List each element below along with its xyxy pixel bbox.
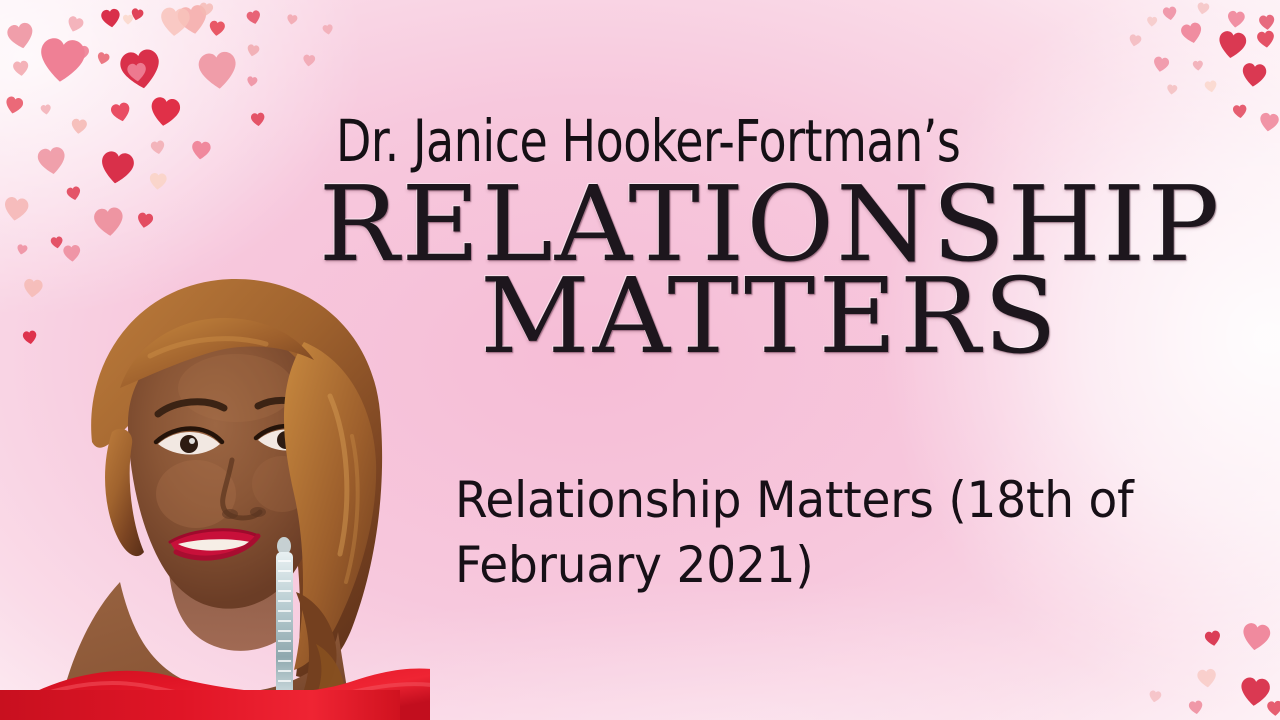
heart-icon (1161, 5, 1179, 23)
heart-icon (149, 139, 168, 158)
heart-icon (1238, 620, 1274, 656)
heart-icon (244, 8, 263, 27)
heart-icon (122, 14, 134, 26)
heart-icon (301, 53, 316, 68)
heart-icon (135, 211, 156, 232)
heart-icon (1146, 16, 1159, 29)
show-title-line-2: MATTERS (317, 268, 1223, 366)
heart-icon (1147, 689, 1163, 705)
heart-icon (125, 61, 149, 85)
heart-icon (1239, 61, 1270, 92)
heart-icon (108, 100, 134, 126)
heart-icon (1127, 33, 1144, 50)
heart-icon (1265, 699, 1280, 718)
show-title: RELATIONSHIP MATTERS (330, 176, 1210, 366)
heart-icon (64, 14, 87, 37)
heart-icon (147, 171, 168, 192)
heart-icon (1203, 629, 1224, 650)
heart-icon (1225, 9, 1247, 31)
dress-lower-fill (0, 690, 400, 720)
heart-icon (1231, 103, 1249, 121)
heart-icon (0, 194, 32, 226)
heart-icon (94, 50, 111, 67)
heart-icon (245, 75, 259, 89)
heart-icon (157, 5, 193, 41)
heart-icon (1214, 28, 1250, 64)
heart-icon (245, 43, 262, 60)
heart-icon (1187, 699, 1205, 717)
heart-icon (146, 94, 184, 132)
heart-icon (3, 19, 39, 55)
episode-subtitle: Relationship Matters (18th of February 2… (455, 468, 1169, 598)
heart-icon (1255, 29, 1278, 52)
heart-icon (99, 7, 124, 32)
heart-icon (194, 48, 242, 96)
heart-icon (1151, 55, 1172, 76)
heart-icon (34, 144, 70, 180)
heart-icon (90, 204, 127, 241)
heart-icon (207, 19, 227, 39)
heart-icon (321, 23, 335, 37)
heart-icon (68, 42, 91, 65)
heart-icon (1165, 83, 1179, 97)
heart-icon (1257, 111, 1280, 136)
heart-icon (1203, 79, 1219, 95)
host-name-kicker: Dr. Janice Hooker-Fortman’s (336, 112, 1100, 170)
heart-icon (96, 148, 139, 191)
heart-icon (197, 1, 215, 19)
heart-icon (1192, 60, 1205, 73)
heart-icon (39, 103, 53, 117)
heart-icon (249, 111, 267, 129)
slide-canvas: Dr. Janice Hooker-Fortman’s RELATIONSHIP… (0, 0, 1280, 720)
heart-icon (1195, 1, 1211, 17)
heart-icon (11, 59, 31, 79)
heart-icon (1195, 667, 1219, 691)
heart-icon (285, 13, 299, 27)
heart-icon (69, 117, 89, 137)
heart-icon (65, 185, 84, 204)
heart-icon (1178, 20, 1206, 48)
heart-icon (189, 139, 213, 163)
heart-icon (2, 94, 26, 118)
